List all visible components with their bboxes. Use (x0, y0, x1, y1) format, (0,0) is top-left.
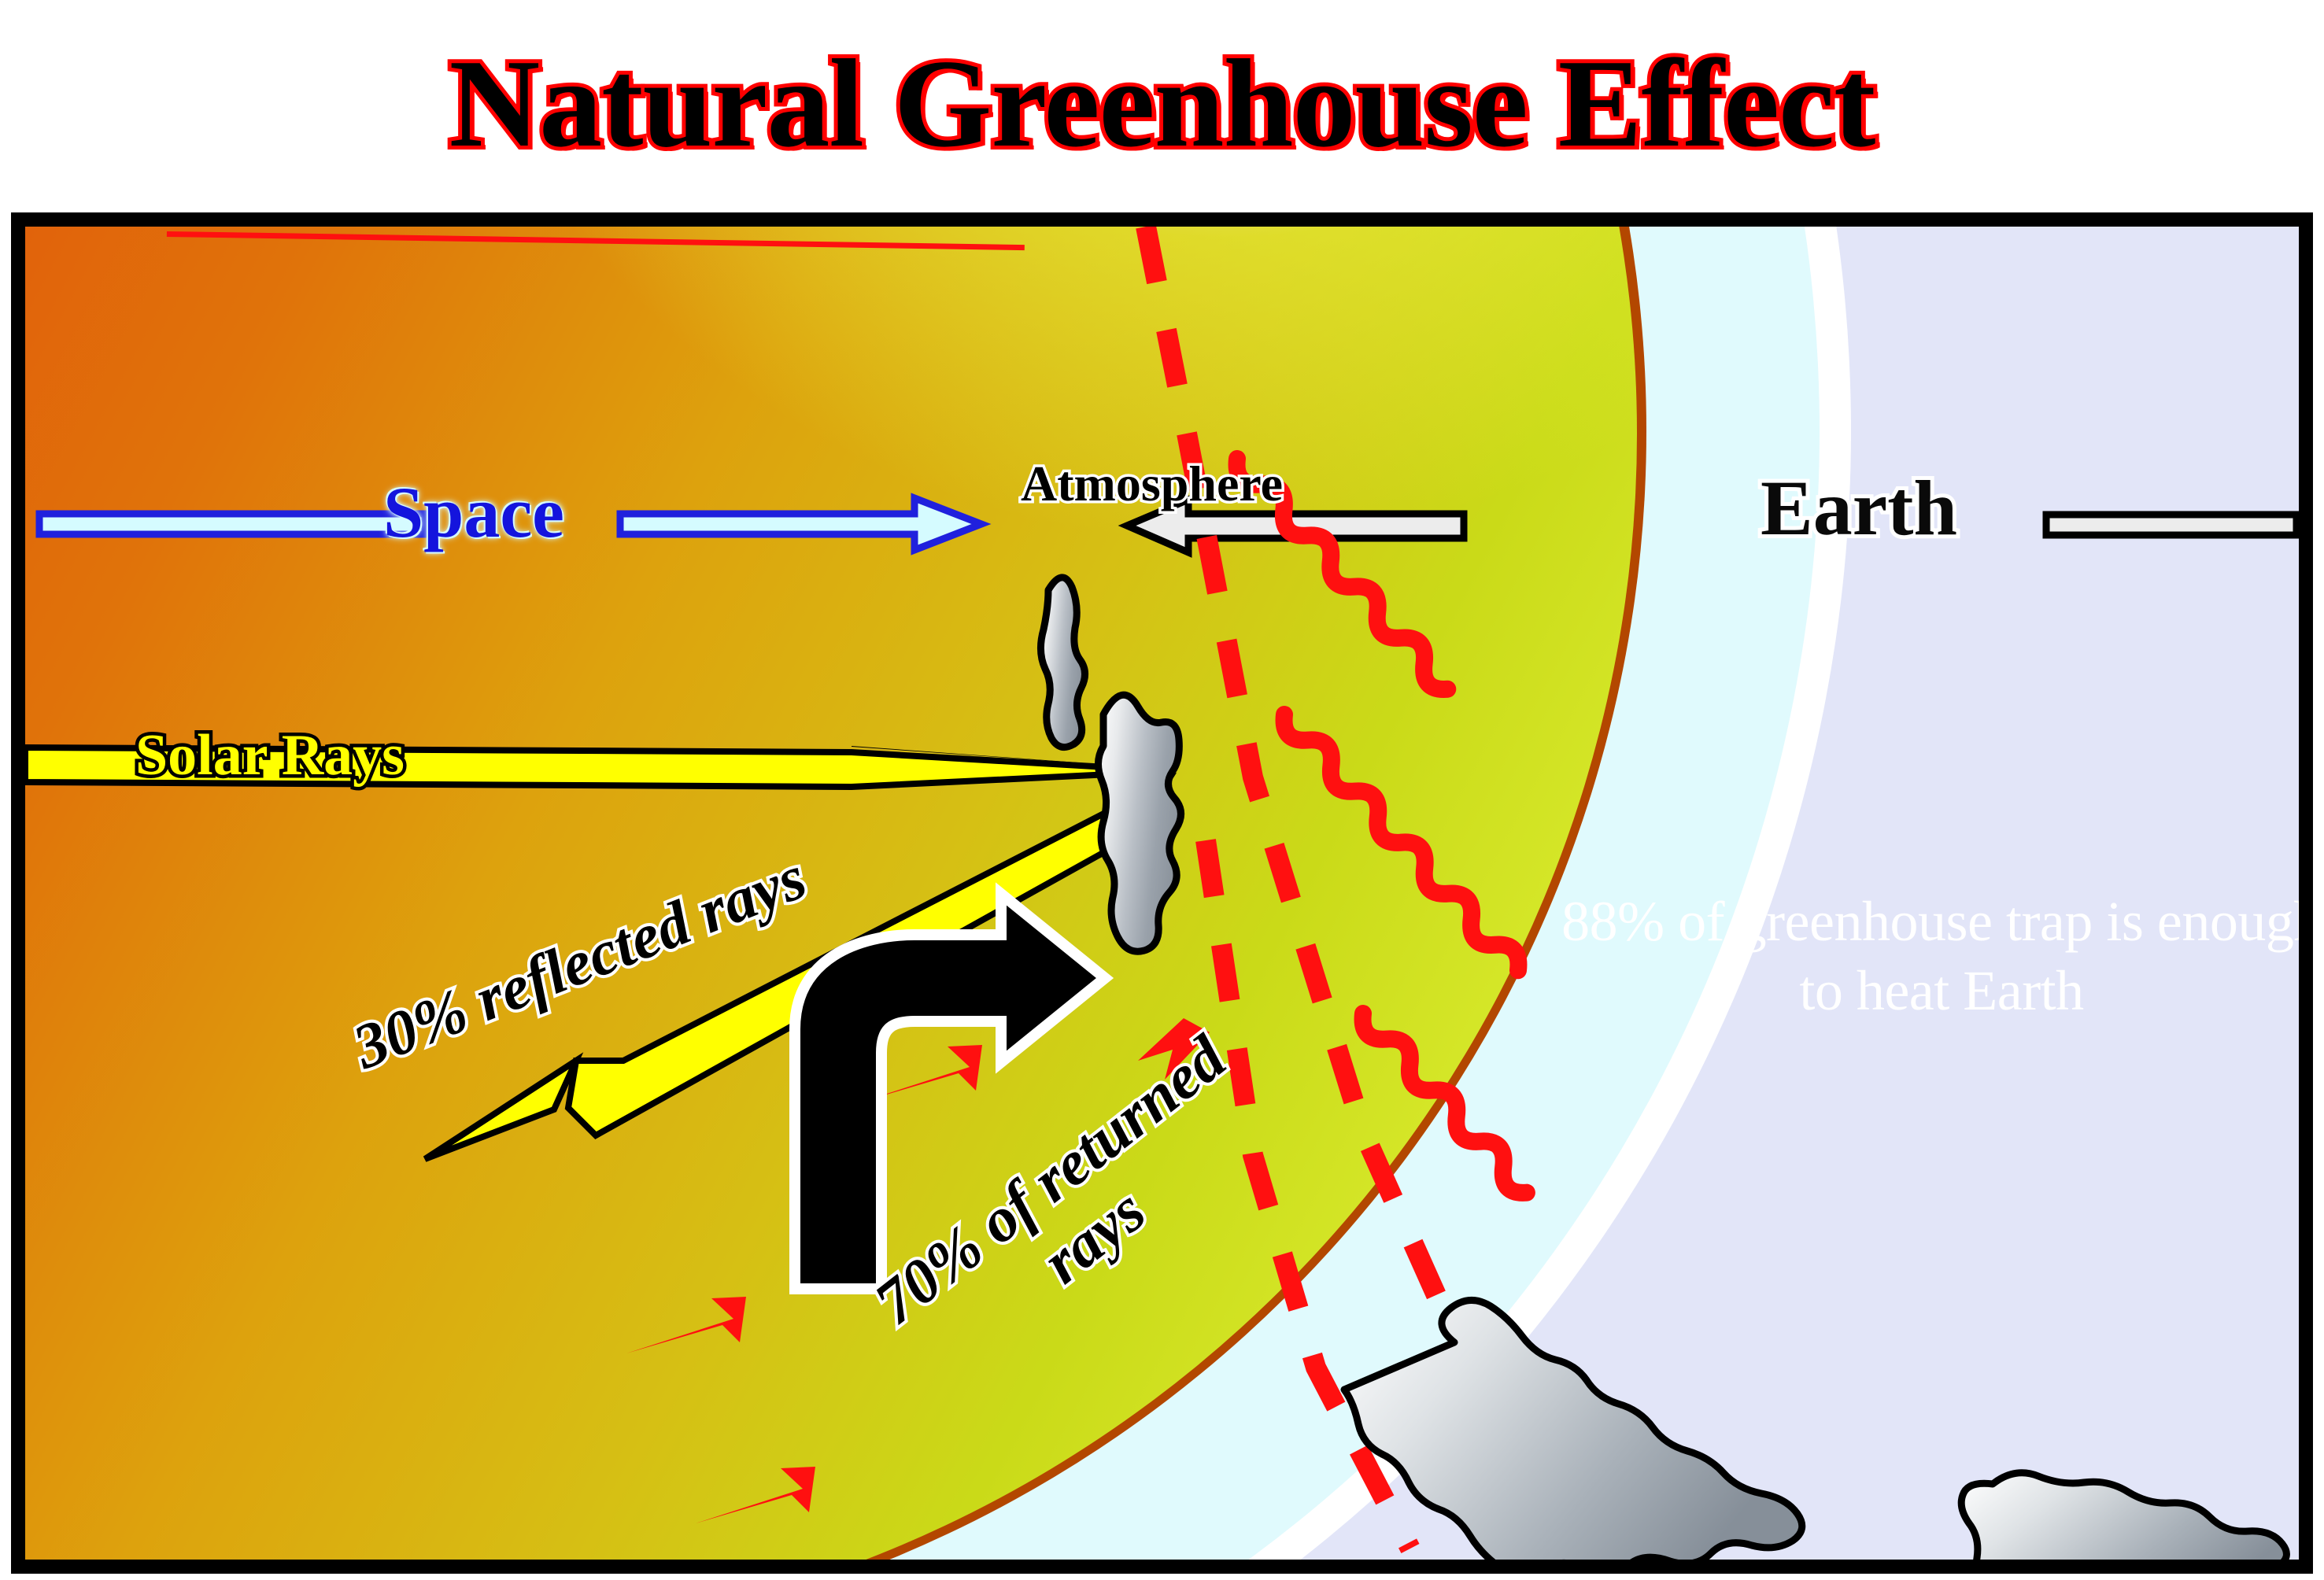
title-bar: Natural Greenhouse Effect (0, 0, 2324, 206)
diagram-frame: Space Atmosphere Earth Solar Rays 30% re… (11, 212, 2313, 1574)
space-label: Space (383, 471, 564, 554)
cloud-upper-large (1098, 695, 1180, 951)
earth-label: Earth (1761, 463, 1957, 553)
cloud-lower-large (1344, 1300, 1802, 1560)
page-title: Natural Greenhouse Effect (449, 40, 1875, 166)
greenhouse-trap-label: 88% of greenhouse trap is enough to heat… (1544, 888, 2299, 1026)
cloud-upper-small (1040, 578, 1084, 748)
earth-axis-arrow (1127, 500, 2296, 552)
atmosphere-label: Atmosphere (1021, 455, 1283, 513)
solar-rays-label: Solar Rays (135, 722, 405, 789)
cloud-bottom-right (1961, 1473, 2286, 1560)
returned-infrared-rays (1220, 453, 1540, 1200)
diagram-canvas: Space Atmosphere Earth Solar Rays 30% re… (25, 227, 2299, 1560)
